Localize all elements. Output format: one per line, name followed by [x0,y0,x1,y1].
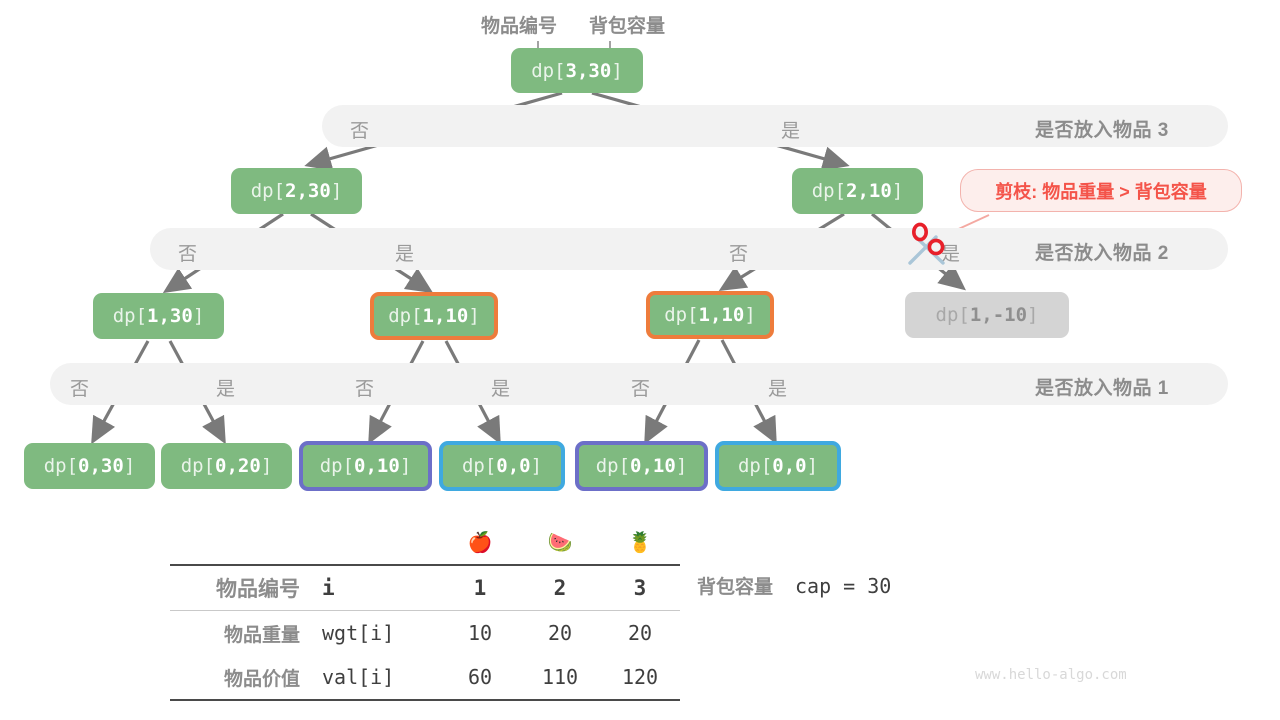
icon-row-spacer [170,520,318,565]
band3-choice-yes: 是 [781,116,800,143]
node-args: 1,10 [699,304,745,326]
band1-choice-yes-3: 是 [768,374,787,401]
item-index-label: 物品编号 [481,11,557,38]
pruning-callout: 剪枝: 物品重量 > 背包容量 [960,169,1242,212]
node-args: 0,10 [354,455,400,477]
node-dp-1-10-right[interactable]: dp[1,10] [646,291,774,339]
capacity-note: 背包容量cap = 30 [697,572,891,599]
row-head-value: 物品价值 [170,655,318,700]
table-row-index: 物品编号 i 1 2 3 [170,565,680,611]
watermark: www.hello-algo.com [975,667,1127,683]
node-dp-1-30[interactable]: dp[1,30] [93,293,224,339]
node-suffix: ] [807,455,818,477]
cell-val-3: 120 [600,655,680,700]
table-row-weight: 物品重量 wgt[i] 10 20 20 [170,611,680,656]
band2-choice-yes-left: 是 [395,239,414,266]
scissors-icon [903,222,955,270]
node-args: 1,30 [147,305,193,327]
node-dp-1-10-left[interactable]: dp[1,10] [370,292,498,340]
band1-choice-no-1: 否 [70,374,89,401]
node-prefix: dp[ [812,180,846,202]
node-prefix: dp[ [320,455,354,477]
node-args: 1,-10 [970,304,1027,326]
node-suffix: ] [124,455,135,477]
node-prefix: dp[ [113,305,147,327]
cell-index-1: 1 [440,565,520,611]
node-dp-0-0-left[interactable]: dp[0,0] [439,441,565,491]
node-dp-0-10-right[interactable]: dp[0,10] [575,441,708,491]
node-dp-1-neg10-pruned[interactable]: dp[1,-10] [905,292,1069,338]
node-prefix: dp[ [462,455,496,477]
node-dp-0-30[interactable]: dp[0,30] [24,443,155,489]
node-prefix: dp[ [596,455,630,477]
band2-choice-no-left: 否 [178,239,197,266]
table-icon-row: 🍎 🍉 🍍 [170,520,680,565]
diagram-canvas: 物品编号 背包容量 否 是 是否放入物品 3 否 是 否 是 是否放入物品 2 … [0,0,1280,720]
apple-icon: 🍎 [440,520,520,565]
node-prefix: dp[ [181,455,215,477]
node-suffix: ] [468,305,479,327]
cell-wgt-1: 10 [440,611,520,656]
node-dp-0-10-left[interactable]: dp[0,10] [299,441,432,491]
node-args: 0,30 [78,455,124,477]
band3-choice-no: 否 [350,116,369,143]
decision-band-item1-label: 是否放入物品 1 [1035,373,1169,400]
cell-wgt-name: wgt[i] [318,611,440,656]
decision-band-item3-label: 是否放入物品 3 [1035,115,1169,142]
band1-choice-yes-1: 是 [216,374,235,401]
node-args: 3,30 [566,60,612,82]
node-suffix: ] [400,455,411,477]
node-prefix: dp[ [44,455,78,477]
node-dp-0-0-right[interactable]: dp[0,0] [715,441,841,491]
node-prefix: dp[ [388,305,422,327]
row-head-item-index: 物品编号 [170,565,318,611]
node-suffix: ] [261,455,272,477]
node-suffix: ] [611,60,622,82]
band1-choice-no-3: 否 [631,374,650,401]
node-args: 2,10 [846,180,892,202]
node-prefix: dp[ [531,60,565,82]
node-args: 1,10 [423,305,469,327]
node-prefix: dp[ [738,455,772,477]
pineapple-icon: 🍍 [600,520,680,565]
watermelon-icon: 🍉 [520,520,600,565]
band1-choice-yes-2: 是 [491,374,510,401]
cell-wgt-3: 20 [600,611,680,656]
node-prefix: dp[ [936,304,970,326]
node-dp-2-30[interactable]: dp[2,30] [231,168,362,214]
cell-val-name: val[i] [318,655,440,700]
row-head-weight: 物品重量 [170,611,318,656]
node-dp-2-10[interactable]: dp[2,10] [792,168,923,214]
cell-wgt-2: 20 [520,611,600,656]
node-suffix: ] [531,455,542,477]
node-suffix: ] [193,305,204,327]
node-prefix: dp[ [664,304,698,326]
cell-val-1: 60 [440,655,520,700]
decision-band-item2-label: 是否放入物品 2 [1035,238,1169,265]
node-prefix: dp[ [251,180,285,202]
node-suffix: ] [744,304,755,326]
node-args: 0,0 [496,455,530,477]
band2-choice-no-right: 否 [729,239,748,266]
node-suffix: ] [892,180,903,202]
table-row-value: 物品价值 val[i] 60 110 120 [170,655,680,700]
bag-capacity-label: 背包容量 [589,11,665,38]
node-dp-3-30[interactable]: dp[3,30] [511,48,643,93]
cell-index-2: 2 [520,565,600,611]
cell-index-name: i [318,565,440,611]
items-table: 🍎 🍉 🍍 物品编号 i 1 2 3 物品重量 wgt[i] 10 20 20 … [170,520,680,701]
cell-val-2: 110 [520,655,600,700]
node-dp-0-20[interactable]: dp[0,20] [161,443,292,489]
band1-choice-no-2: 否 [355,374,374,401]
node-suffix: ] [1027,304,1038,326]
icon-name-spacer [318,520,440,565]
capacity-note-label: 背包容量 [697,577,773,598]
node-args: 0,0 [772,455,806,477]
node-suffix: ] [331,180,342,202]
capacity-note-value: cap = 30 [795,574,891,598]
node-args: 2,30 [285,180,331,202]
node-args: 0,20 [215,455,261,477]
cell-index-3: 3 [600,565,680,611]
node-suffix: ] [676,455,687,477]
node-args: 0,10 [630,455,676,477]
